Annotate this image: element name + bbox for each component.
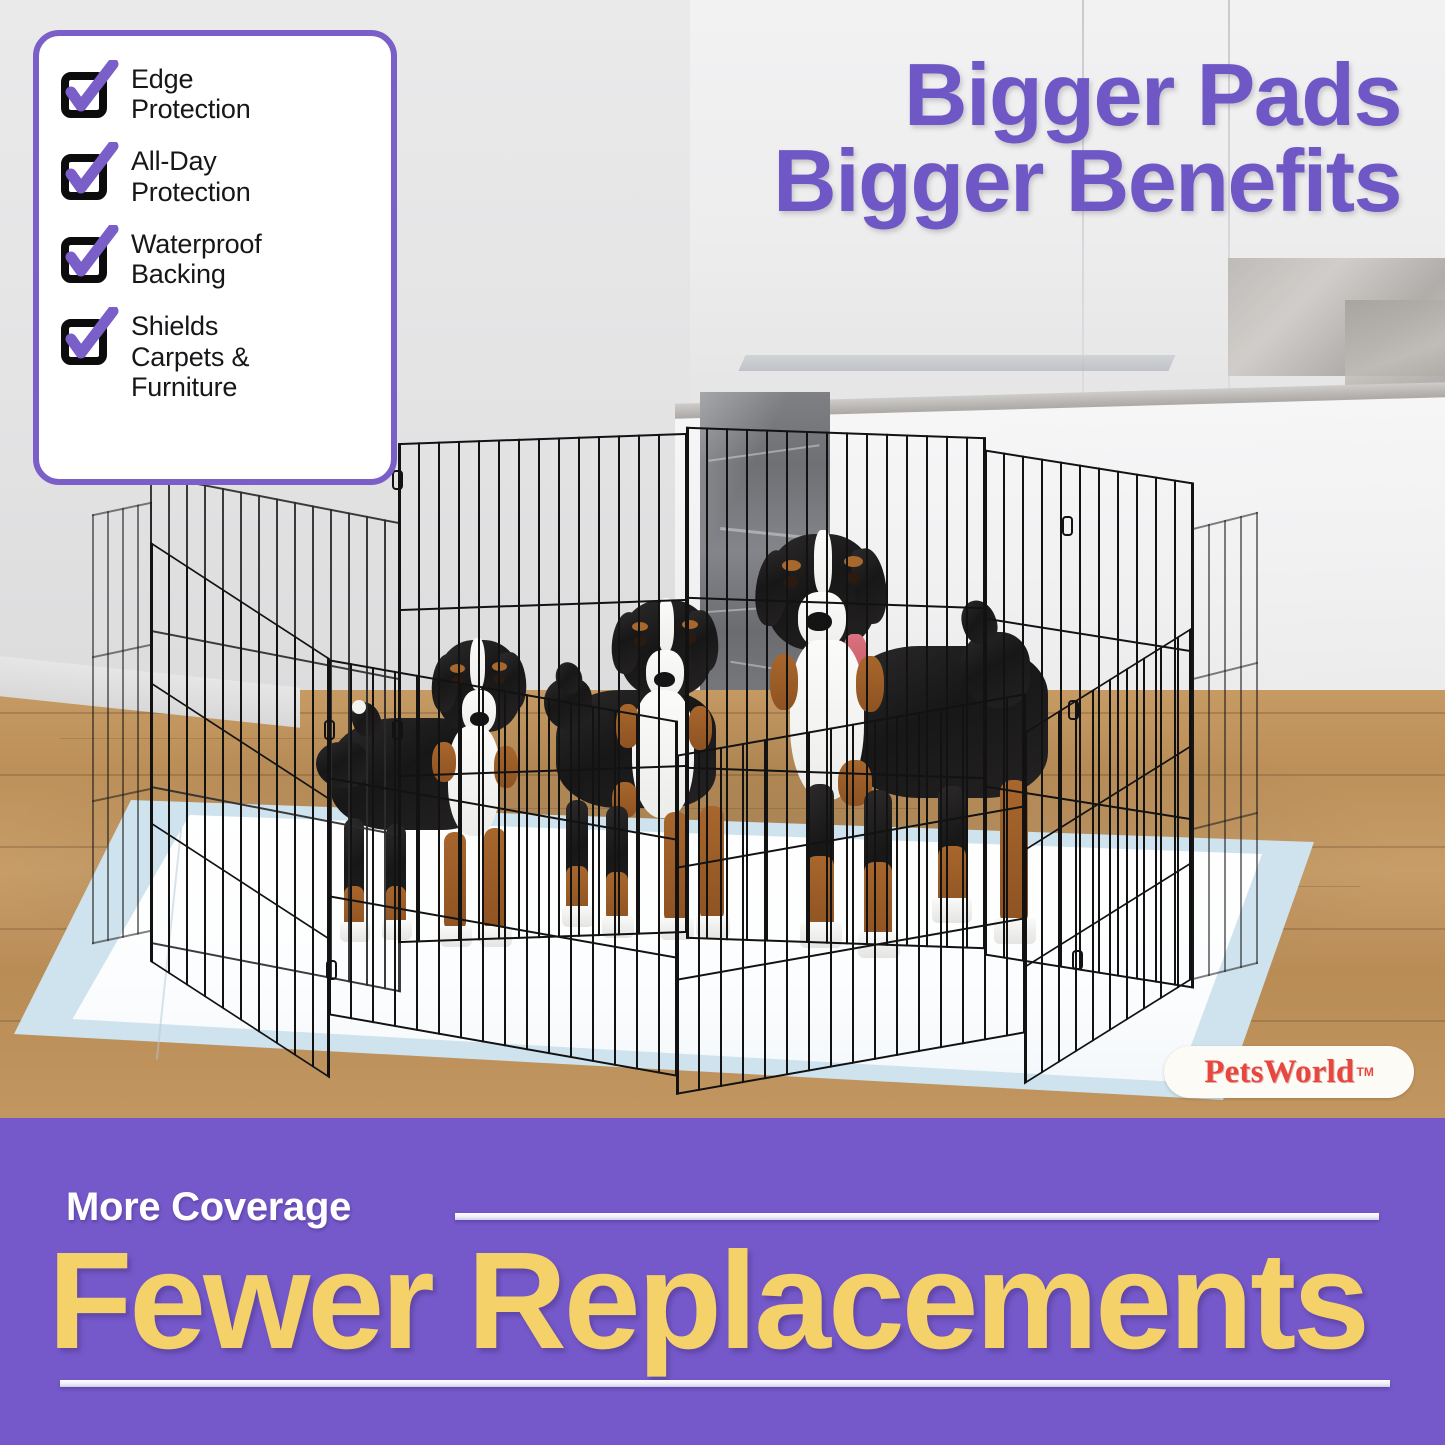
headline-line-1: Bigger Pads	[773, 52, 1401, 138]
checkbox-check-icon	[57, 311, 115, 369]
trademark-mark: TM	[1356, 1065, 1373, 1079]
banner-rule-bottom	[60, 1380, 1390, 1387]
checkbox-check-icon	[57, 229, 115, 287]
banner-rule-top	[455, 1213, 1379, 1220]
feature-card: Edge Protection All-Day Protection Water…	[33, 30, 397, 485]
pen-hinge	[326, 960, 337, 980]
pen-hinge	[324, 720, 335, 740]
pen-panel-front-center-left	[328, 659, 678, 1077]
feature-item: Waterproof Backing	[57, 227, 373, 289]
pen-hinge	[392, 470, 403, 490]
feature-label: Waterproof Backing	[131, 227, 262, 289]
checkbox-check-icon	[57, 64, 115, 122]
product-photo-scene: Edge Protection All-Day Protection Water…	[0, 0, 1445, 1118]
pen-panel-front-center-right	[676, 693, 1026, 1095]
pen-panel-left-side	[92, 502, 152, 945]
feature-label: All-Day Protection	[131, 144, 251, 206]
pen-hinge	[1062, 516, 1073, 536]
brand-name: PetsWorld	[1204, 1054, 1354, 1091]
brand-logo: PetsWorld TM	[1164, 1046, 1414, 1098]
headline: Bigger Pads Bigger Benefits	[773, 52, 1401, 224]
checkbox-check-icon	[57, 146, 115, 204]
headline-line-2: Bigger Benefits	[773, 138, 1401, 224]
feature-item: Edge Protection	[57, 62, 373, 124]
feature-label: Edge Protection	[131, 62, 251, 124]
pen-panel-right-side	[1192, 512, 1258, 980]
banner-headline: Fewer Replacements	[48, 1232, 1408, 1370]
feature-item: Shields Carpets & Furniture	[57, 309, 373, 402]
feature-item: All-Day Protection	[57, 144, 373, 206]
feature-label: Shields Carpets & Furniture	[131, 309, 249, 402]
product-marketing-image: Edge Protection All-Day Protection Water…	[0, 0, 1445, 1445]
